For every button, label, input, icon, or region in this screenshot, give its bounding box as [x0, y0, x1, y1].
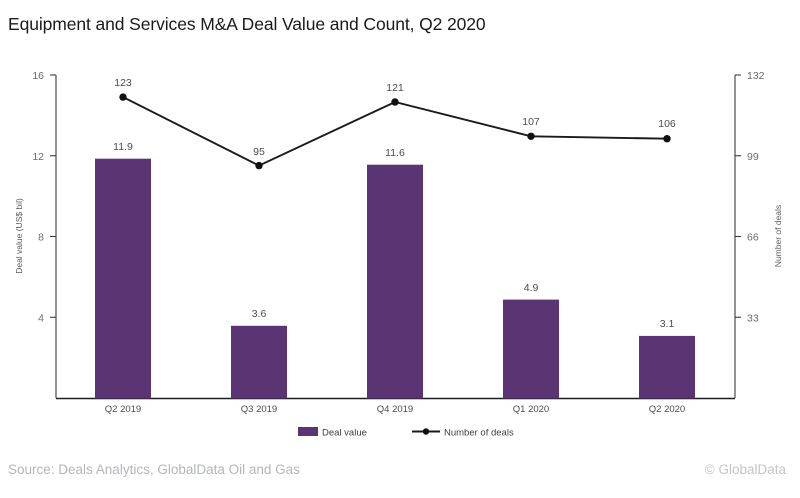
- line-marker-q3-2019[interactable]: [255, 162, 262, 169]
- line-value-label-q4-2019: 121: [386, 82, 404, 94]
- legend-marker-number-of-deals: [423, 428, 429, 434]
- y2-axis-title: Number of deals: [773, 205, 783, 267]
- left-axis-ticks: [50, 75, 56, 317]
- bar-value-label-q2-2020: 3.1: [660, 318, 675, 330]
- bar-q2-2020[interactable]: [639, 336, 695, 399]
- x-category-label-1: Q3 2019: [241, 404, 277, 415]
- chart-plot-area: 16 12 8 4 132 99 66 33 Deal value (US$ b…: [0, 0, 800, 460]
- bar-q2-2019[interactable]: [95, 159, 151, 399]
- right-tick-label-1: 33: [747, 312, 759, 324]
- line-value-label-q1-2020: 107: [522, 116, 540, 128]
- right-tick-label-2: 66: [747, 232, 759, 244]
- chart-footer: Source: Deals Analytics, GlobalData Oil …: [0, 450, 800, 498]
- right-tick-label-3: 99: [747, 151, 759, 163]
- footer-copyright-text: © GlobalData: [705, 462, 786, 477]
- y-axis-title: Deal value (US$ bil): [14, 198, 24, 274]
- line-marker-q4-2019[interactable]: [391, 98, 398, 105]
- legend-label-number-of-deals[interactable]: Number of deals: [444, 428, 514, 439]
- left-tick-label-1: 4: [38, 312, 44, 324]
- bar-value-label-q3-2019: 3.6: [252, 308, 267, 320]
- legend-swatch-deal-value: [298, 427, 318, 436]
- line-marker-q2-2020[interactable]: [663, 135, 670, 142]
- line-marker-q1-2020[interactable]: [527, 133, 534, 140]
- bar-series: [95, 159, 695, 399]
- bar-value-label-q2-2019: 11.9: [113, 141, 133, 153]
- chart-legend: Deal value Number of deals: [298, 427, 514, 439]
- bar-q4-2019[interactable]: [367, 165, 423, 399]
- left-tick-label-4: 16: [32, 70, 44, 82]
- bar-value-label-q4-2019: 11.6: [385, 147, 405, 159]
- line-marker-q2-2019[interactable]: [119, 93, 126, 100]
- legend-label-deal-value[interactable]: Deal value: [322, 428, 367, 439]
- left-tick-label-3: 12: [32, 151, 44, 163]
- chart-figure: Equipment and Services M&A Deal Value an…: [0, 0, 800, 498]
- bar-value-label-q1-2020: 4.9: [524, 282, 539, 294]
- x-category-label-3: Q1 2020: [513, 404, 549, 415]
- right-axis-ticks: [735, 75, 741, 317]
- line-value-label-q2-2019: 123: [114, 77, 132, 89]
- bar-q3-2019[interactable]: [231, 326, 287, 399]
- bar-q1-2020[interactable]: [503, 300, 559, 399]
- right-tick-label-4: 132: [747, 70, 765, 82]
- line-value-label-q3-2019: 95: [253, 146, 265, 158]
- x-category-label-0: Q2 2019: [105, 404, 141, 415]
- line-value-label-q2-2020: 106: [658, 118, 676, 130]
- footer-source-text: Source: Deals Analytics, GlobalData Oil …: [8, 462, 300, 477]
- x-category-label-4: Q2 2020: [649, 404, 685, 415]
- left-tick-label-2: 8: [38, 232, 44, 244]
- x-category-label-2: Q4 2019: [377, 404, 413, 415]
